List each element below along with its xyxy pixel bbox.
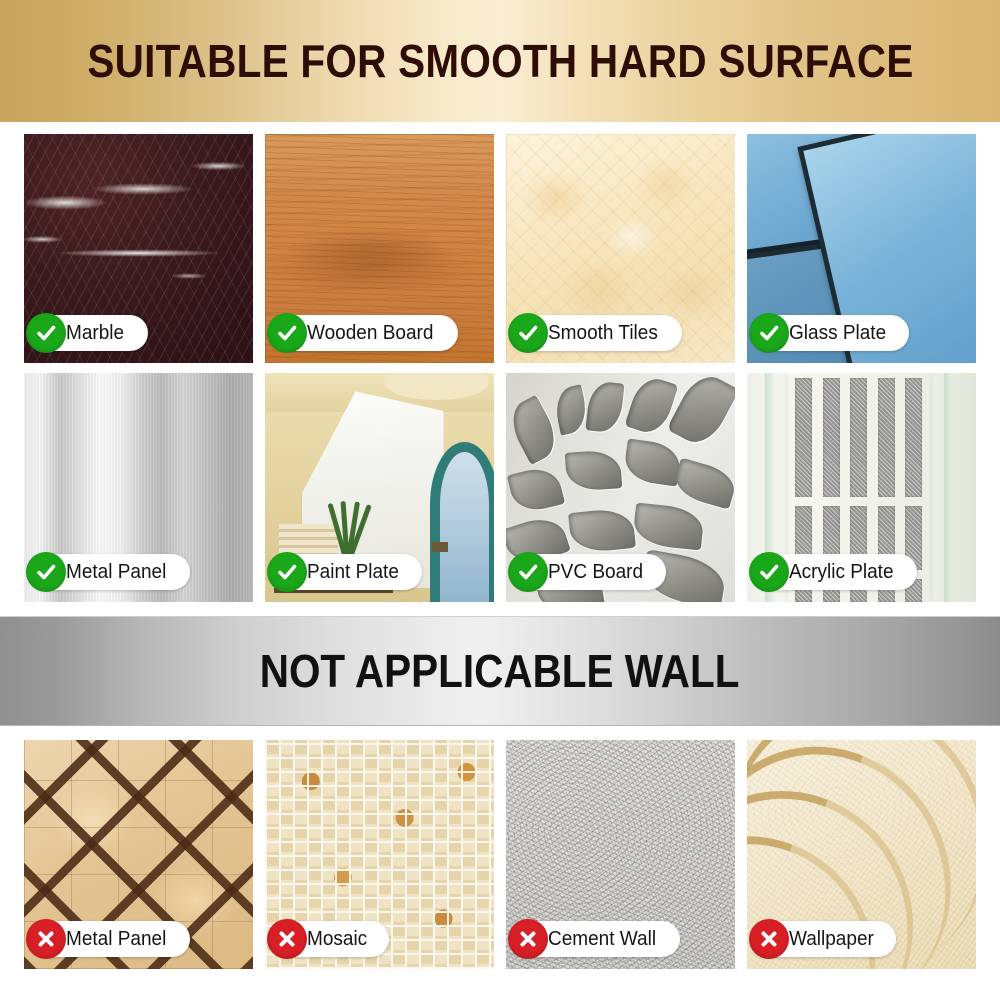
check-icon — [749, 313, 789, 353]
label-pill-paint-plate: Paint Plate — [269, 554, 422, 590]
check-icon — [26, 552, 66, 592]
surface-label: Marble — [66, 322, 124, 345]
surface-label: Metal Panel — [66, 928, 166, 951]
suitable-grid: Marble Wooden Board Smooth Tiles — [0, 122, 1000, 602]
label-pill-smooth-tiles: Smooth Tiles — [510, 315, 682, 351]
surface-label: Paint Plate — [307, 561, 399, 584]
surface-label: Smooth Tiles — [548, 322, 658, 345]
surface-card-marble[interactable]: Marble — [24, 134, 253, 363]
label-pill-mosaic: Mosaic — [269, 921, 389, 957]
label-pill-wallpaper: Wallpaper — [751, 921, 896, 957]
surface-card-wooden-board[interactable]: Wooden Board — [265, 134, 494, 363]
surface-label: PVC Board — [548, 561, 643, 584]
label-pill-pvc-board: PVC Board — [510, 554, 666, 590]
label-pill-marble: Marble — [28, 315, 148, 351]
infographic-page: SUITABLE FOR SMOOTH HARD SURFACE Marble … — [0, 0, 1000, 995]
surface-card-metal-panel[interactable]: Metal Panel — [24, 373, 253, 602]
unsuitable-card-wallpaper[interactable]: Wallpaper — [747, 740, 976, 969]
surface-card-paint-plate[interactable]: Paint Plate — [265, 373, 494, 602]
surface-label: Cement Wall — [548, 928, 656, 951]
unsuitable-card-metal-panel[interactable]: Metal Panel — [24, 740, 253, 969]
label-pill-cement-wall: Cement Wall — [510, 921, 680, 957]
surface-label: Glass Plate — [789, 322, 886, 345]
check-icon — [749, 552, 789, 592]
surface-label: Acrylic Plate — [789, 561, 894, 584]
surface-card-acrylic-plate[interactable]: Acrylic Plate — [747, 373, 976, 602]
label-pill-wooden-board: Wooden Board — [269, 315, 458, 351]
check-icon — [267, 552, 307, 592]
cross-icon — [749, 919, 789, 959]
label-pill-metal-panel: Metal Panel — [28, 554, 190, 590]
surface-card-glass-plate[interactable]: Glass Plate — [747, 134, 976, 363]
not-applicable-banner-title: NOT APPLICABLE WALL — [260, 644, 740, 698]
check-icon — [508, 552, 548, 592]
label-pill-unsuitable-metal-panel: Metal Panel — [28, 921, 190, 957]
check-icon — [26, 313, 66, 353]
surface-label: Mosaic — [307, 928, 367, 951]
surface-label: Wallpaper — [789, 928, 874, 951]
label-pill-glass-plate: Glass Plate — [751, 315, 909, 351]
suitable-banner: SUITABLE FOR SMOOTH HARD SURFACE — [0, 0, 1000, 122]
surface-label: Wooden Board — [307, 322, 433, 345]
surface-card-smooth-tiles[interactable]: Smooth Tiles — [506, 134, 735, 363]
check-icon — [508, 313, 548, 353]
not-applicable-banner: NOT APPLICABLE WALL — [0, 616, 1000, 726]
suitable-banner-title: SUITABLE FOR SMOOTH HARD SURFACE — [87, 34, 913, 88]
cross-icon — [508, 919, 548, 959]
cross-icon — [26, 919, 66, 959]
unsuitable-card-cement-wall[interactable]: Cement Wall — [506, 740, 735, 969]
unsuitable-card-mosaic[interactable]: Mosaic — [265, 740, 494, 969]
not-applicable-grid: Metal Panel Mosaic Cement Wall — [0, 726, 1000, 969]
surface-card-pvc-board[interactable]: PVC Board — [506, 373, 735, 602]
cross-icon — [267, 919, 307, 959]
check-icon — [267, 313, 307, 353]
surface-label: Metal Panel — [66, 561, 166, 584]
label-pill-acrylic-plate: Acrylic Plate — [751, 554, 917, 590]
